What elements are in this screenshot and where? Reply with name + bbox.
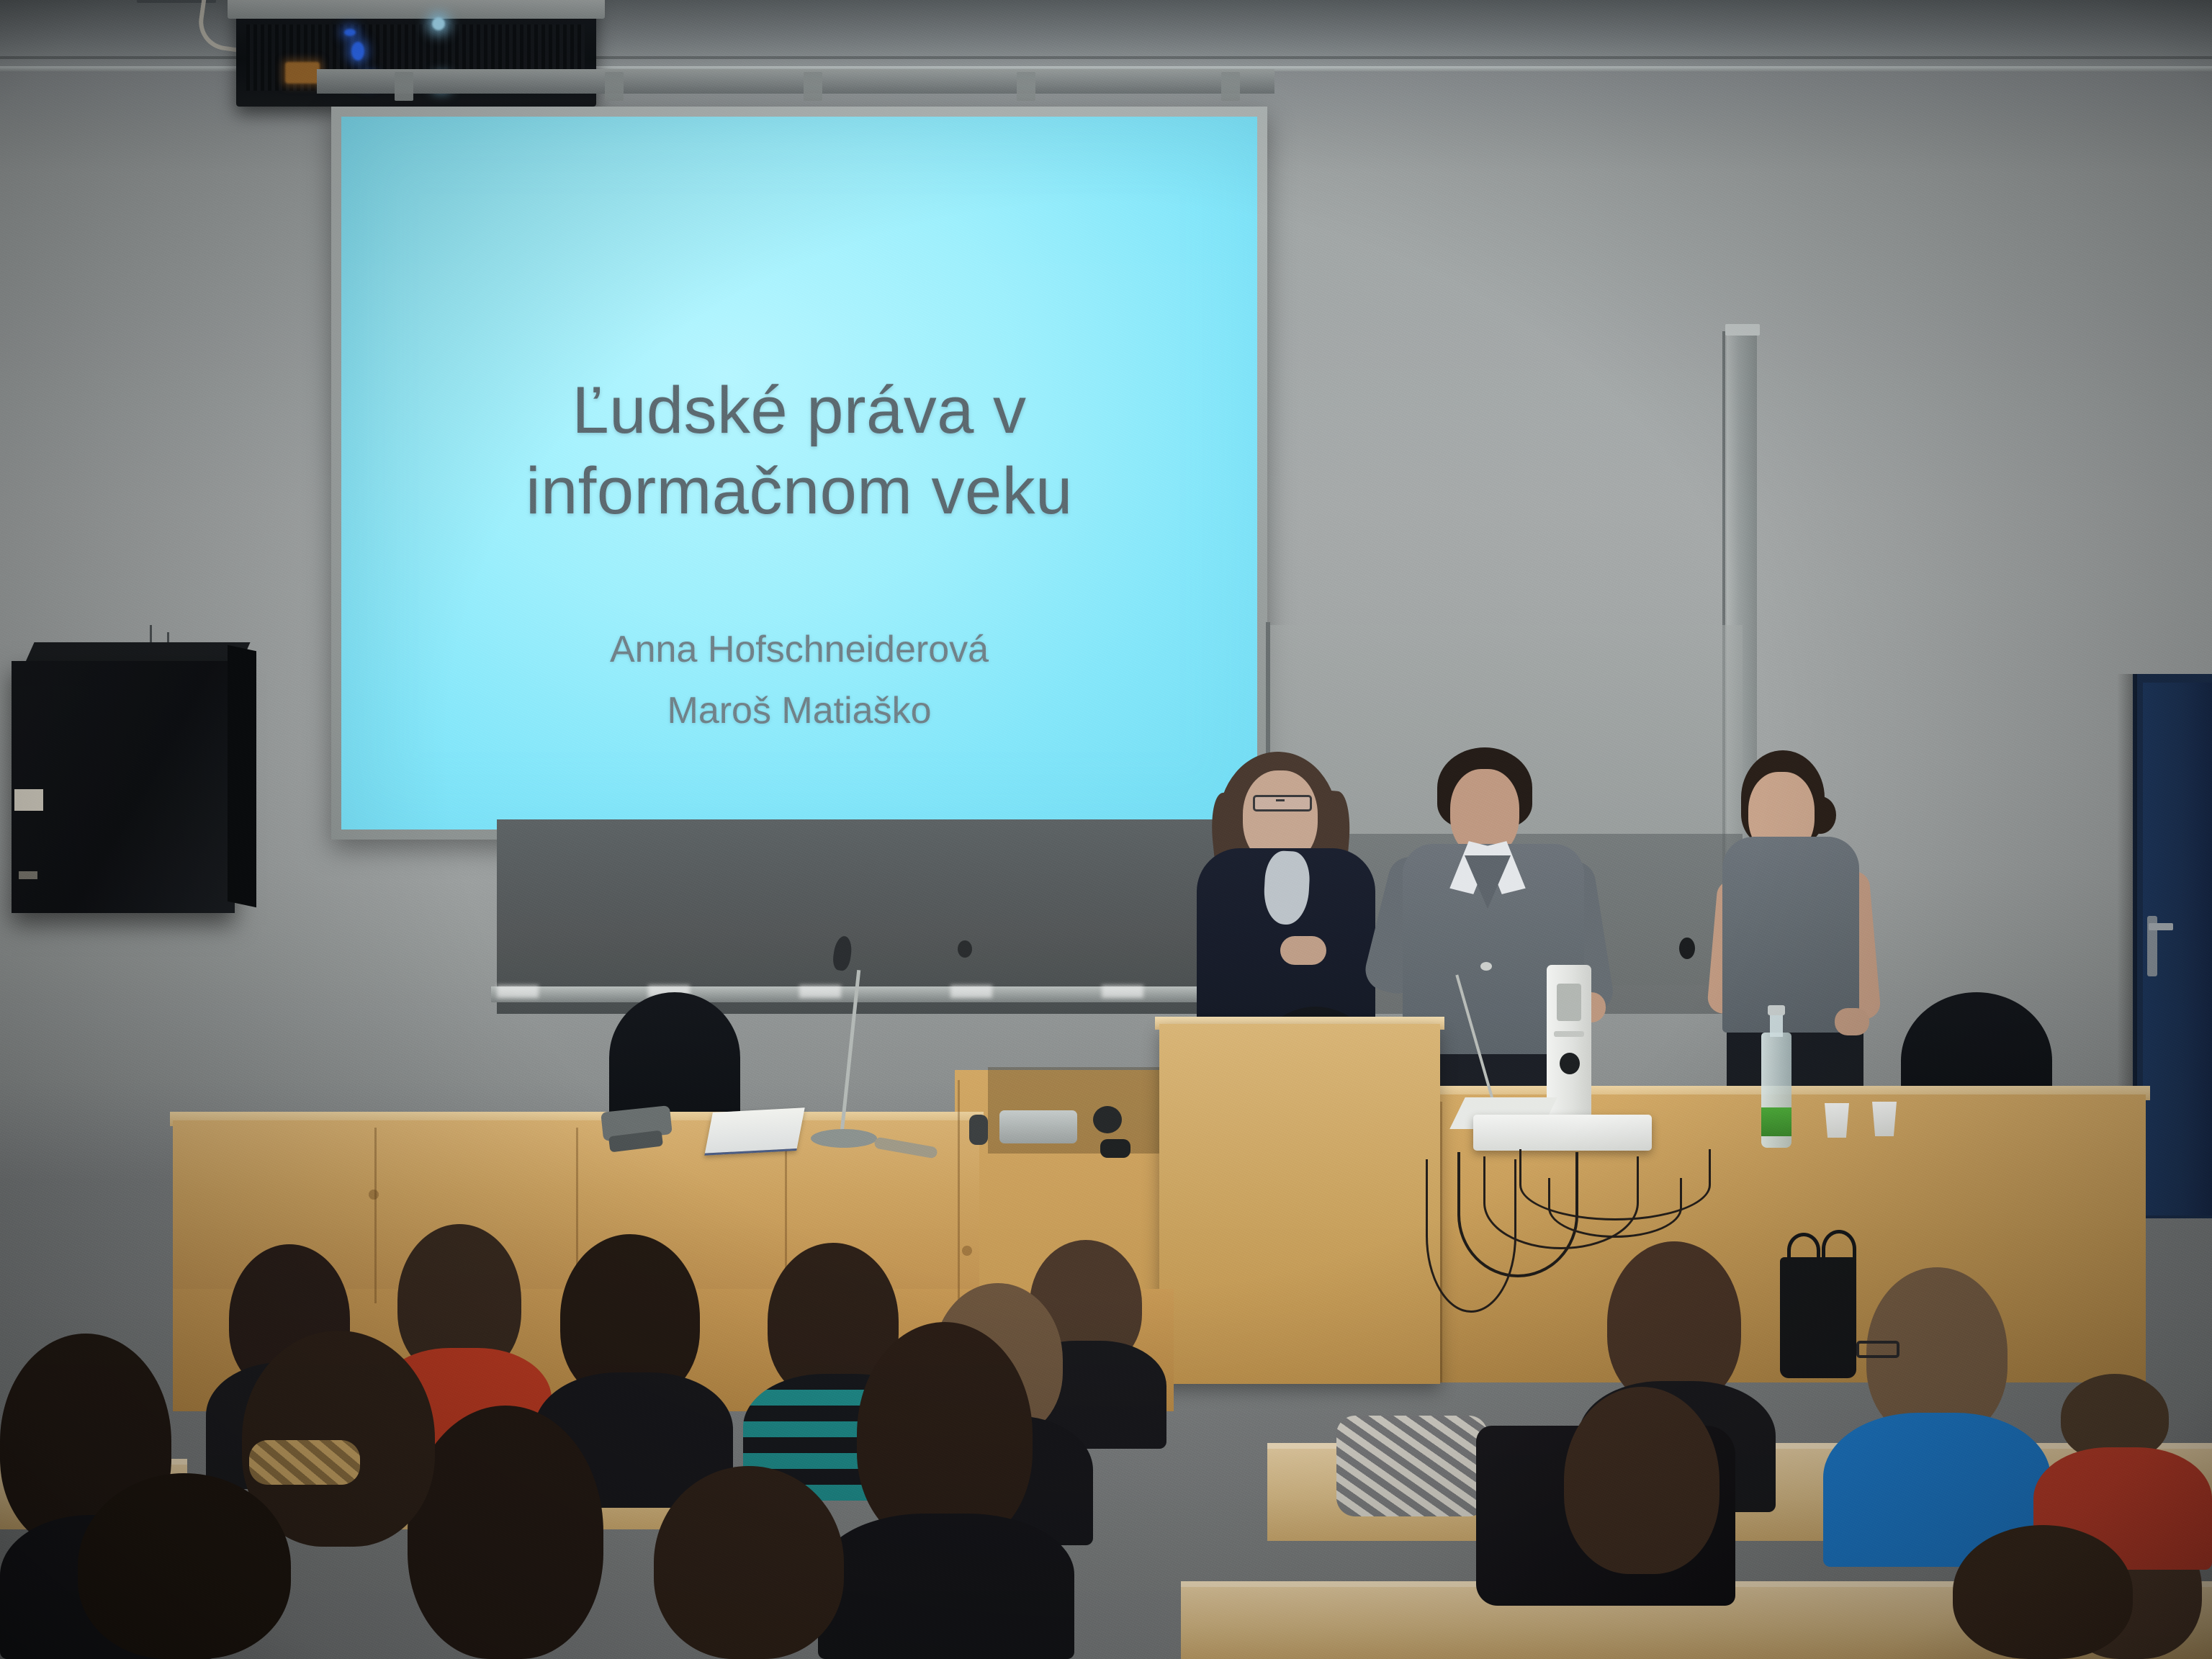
- wall-hole-2: [958, 940, 972, 958]
- visualizer-buttons[interactable]: [1554, 1031, 1584, 1037]
- projector-led-cyan-icon: [432, 17, 445, 30]
- door-handle[interactable]: [2149, 923, 2173, 930]
- visualizer-base: [1473, 1115, 1652, 1151]
- hand: [1835, 1008, 1869, 1035]
- board-ledge-highlights: [497, 985, 1224, 998]
- head: [78, 1473, 291, 1659]
- equipment-roller: [999, 1110, 1077, 1143]
- visualizer-display: [1557, 984, 1581, 1021]
- bottle-cap: [1768, 1005, 1785, 1015]
- hair-clip: [249, 1440, 360, 1485]
- head: [654, 1466, 844, 1659]
- plastic-cup[interactable]: [1872, 1102, 1897, 1136]
- glasses-bridge: [1276, 799, 1285, 801]
- visualizer-arm-tip: [1480, 962, 1492, 971]
- patterned-scarf[interactable]: [1336, 1416, 1488, 1516]
- desk-cable-2: [1548, 1178, 1682, 1238]
- bottle-neck: [1770, 1012, 1783, 1037]
- projector-led-blue2-icon: [351, 42, 364, 60]
- head: [1564, 1387, 1719, 1574]
- paper-stack[interactable]: [704, 1107, 804, 1155]
- glasses-icon: [1253, 795, 1312, 811]
- handbag-handle: [1787, 1233, 1820, 1268]
- visualizer-lens-icon: [1560, 1053, 1580, 1074]
- black-handbag[interactable]: [1780, 1257, 1856, 1378]
- desk-cable: [1426, 1159, 1516, 1313]
- projector-bracket: [228, 0, 605, 19]
- bottle-label: [1761, 1107, 1791, 1136]
- desk-seam: [374, 1128, 377, 1303]
- screen-clip: [1017, 72, 1035, 101]
- slide-title: Ľudské práva v informačnom veku: [526, 370, 1073, 531]
- equipment-block: [1100, 1139, 1130, 1158]
- slide-author-2: Maroš Matiaško: [610, 680, 989, 741]
- desk-knob: [369, 1190, 379, 1200]
- podium: [1159, 1024, 1440, 1384]
- glasses-icon: [1856, 1341, 1899, 1358]
- slide-authors: Anna Hofschneiderová Maroš Matiaško: [610, 619, 989, 740]
- slide-title-line-2: informačnom veku: [526, 451, 1073, 531]
- equipment-knob[interactable]: [969, 1115, 988, 1145]
- head: [1953, 1525, 2133, 1659]
- shoulders: [818, 1514, 1074, 1659]
- screen-clip: [1221, 72, 1240, 101]
- hands: [1280, 936, 1326, 965]
- screen-clip: [804, 72, 822, 101]
- screen-clip: [605, 72, 624, 101]
- projection-screen: Ľudské práva v informačnom veku Anna Hof…: [341, 117, 1257, 829]
- screen-clip: [395, 72, 413, 101]
- head: [408, 1406, 603, 1659]
- slide-author-1: Anna Hofschneiderová: [610, 619, 989, 680]
- projector-led-amber-icon: [285, 62, 320, 84]
- wall-rail-cap: [1725, 324, 1760, 336]
- speaker-label-small: [19, 871, 37, 879]
- speaker-side: [228, 645, 256, 908]
- microphone-base[interactable]: [811, 1129, 877, 1148]
- wall-speaker-icon: [12, 661, 235, 913]
- handbag-handle: [1822, 1230, 1856, 1268]
- lecture-hall-photo: Ľudské práva v informačnom veku Anna Hof…: [0, 0, 2212, 1659]
- projector-led-blue-icon: [344, 29, 356, 36]
- chair[interactable]: [609, 992, 740, 1123]
- equipment-dial[interactable]: [1093, 1106, 1122, 1133]
- speaker-label: [14, 789, 43, 811]
- screen-rail: [317, 69, 1274, 94]
- plastic-cup[interactable]: [1825, 1103, 1849, 1138]
- desk-knob: [962, 1246, 972, 1256]
- grey-top: [1722, 837, 1859, 1033]
- projection-screen-frame: Ľudské práva v informačnom veku Anna Hof…: [331, 107, 1267, 840]
- wall-hole: [1679, 938, 1695, 959]
- slide-title-line-1: Ľudské práva v: [526, 370, 1073, 451]
